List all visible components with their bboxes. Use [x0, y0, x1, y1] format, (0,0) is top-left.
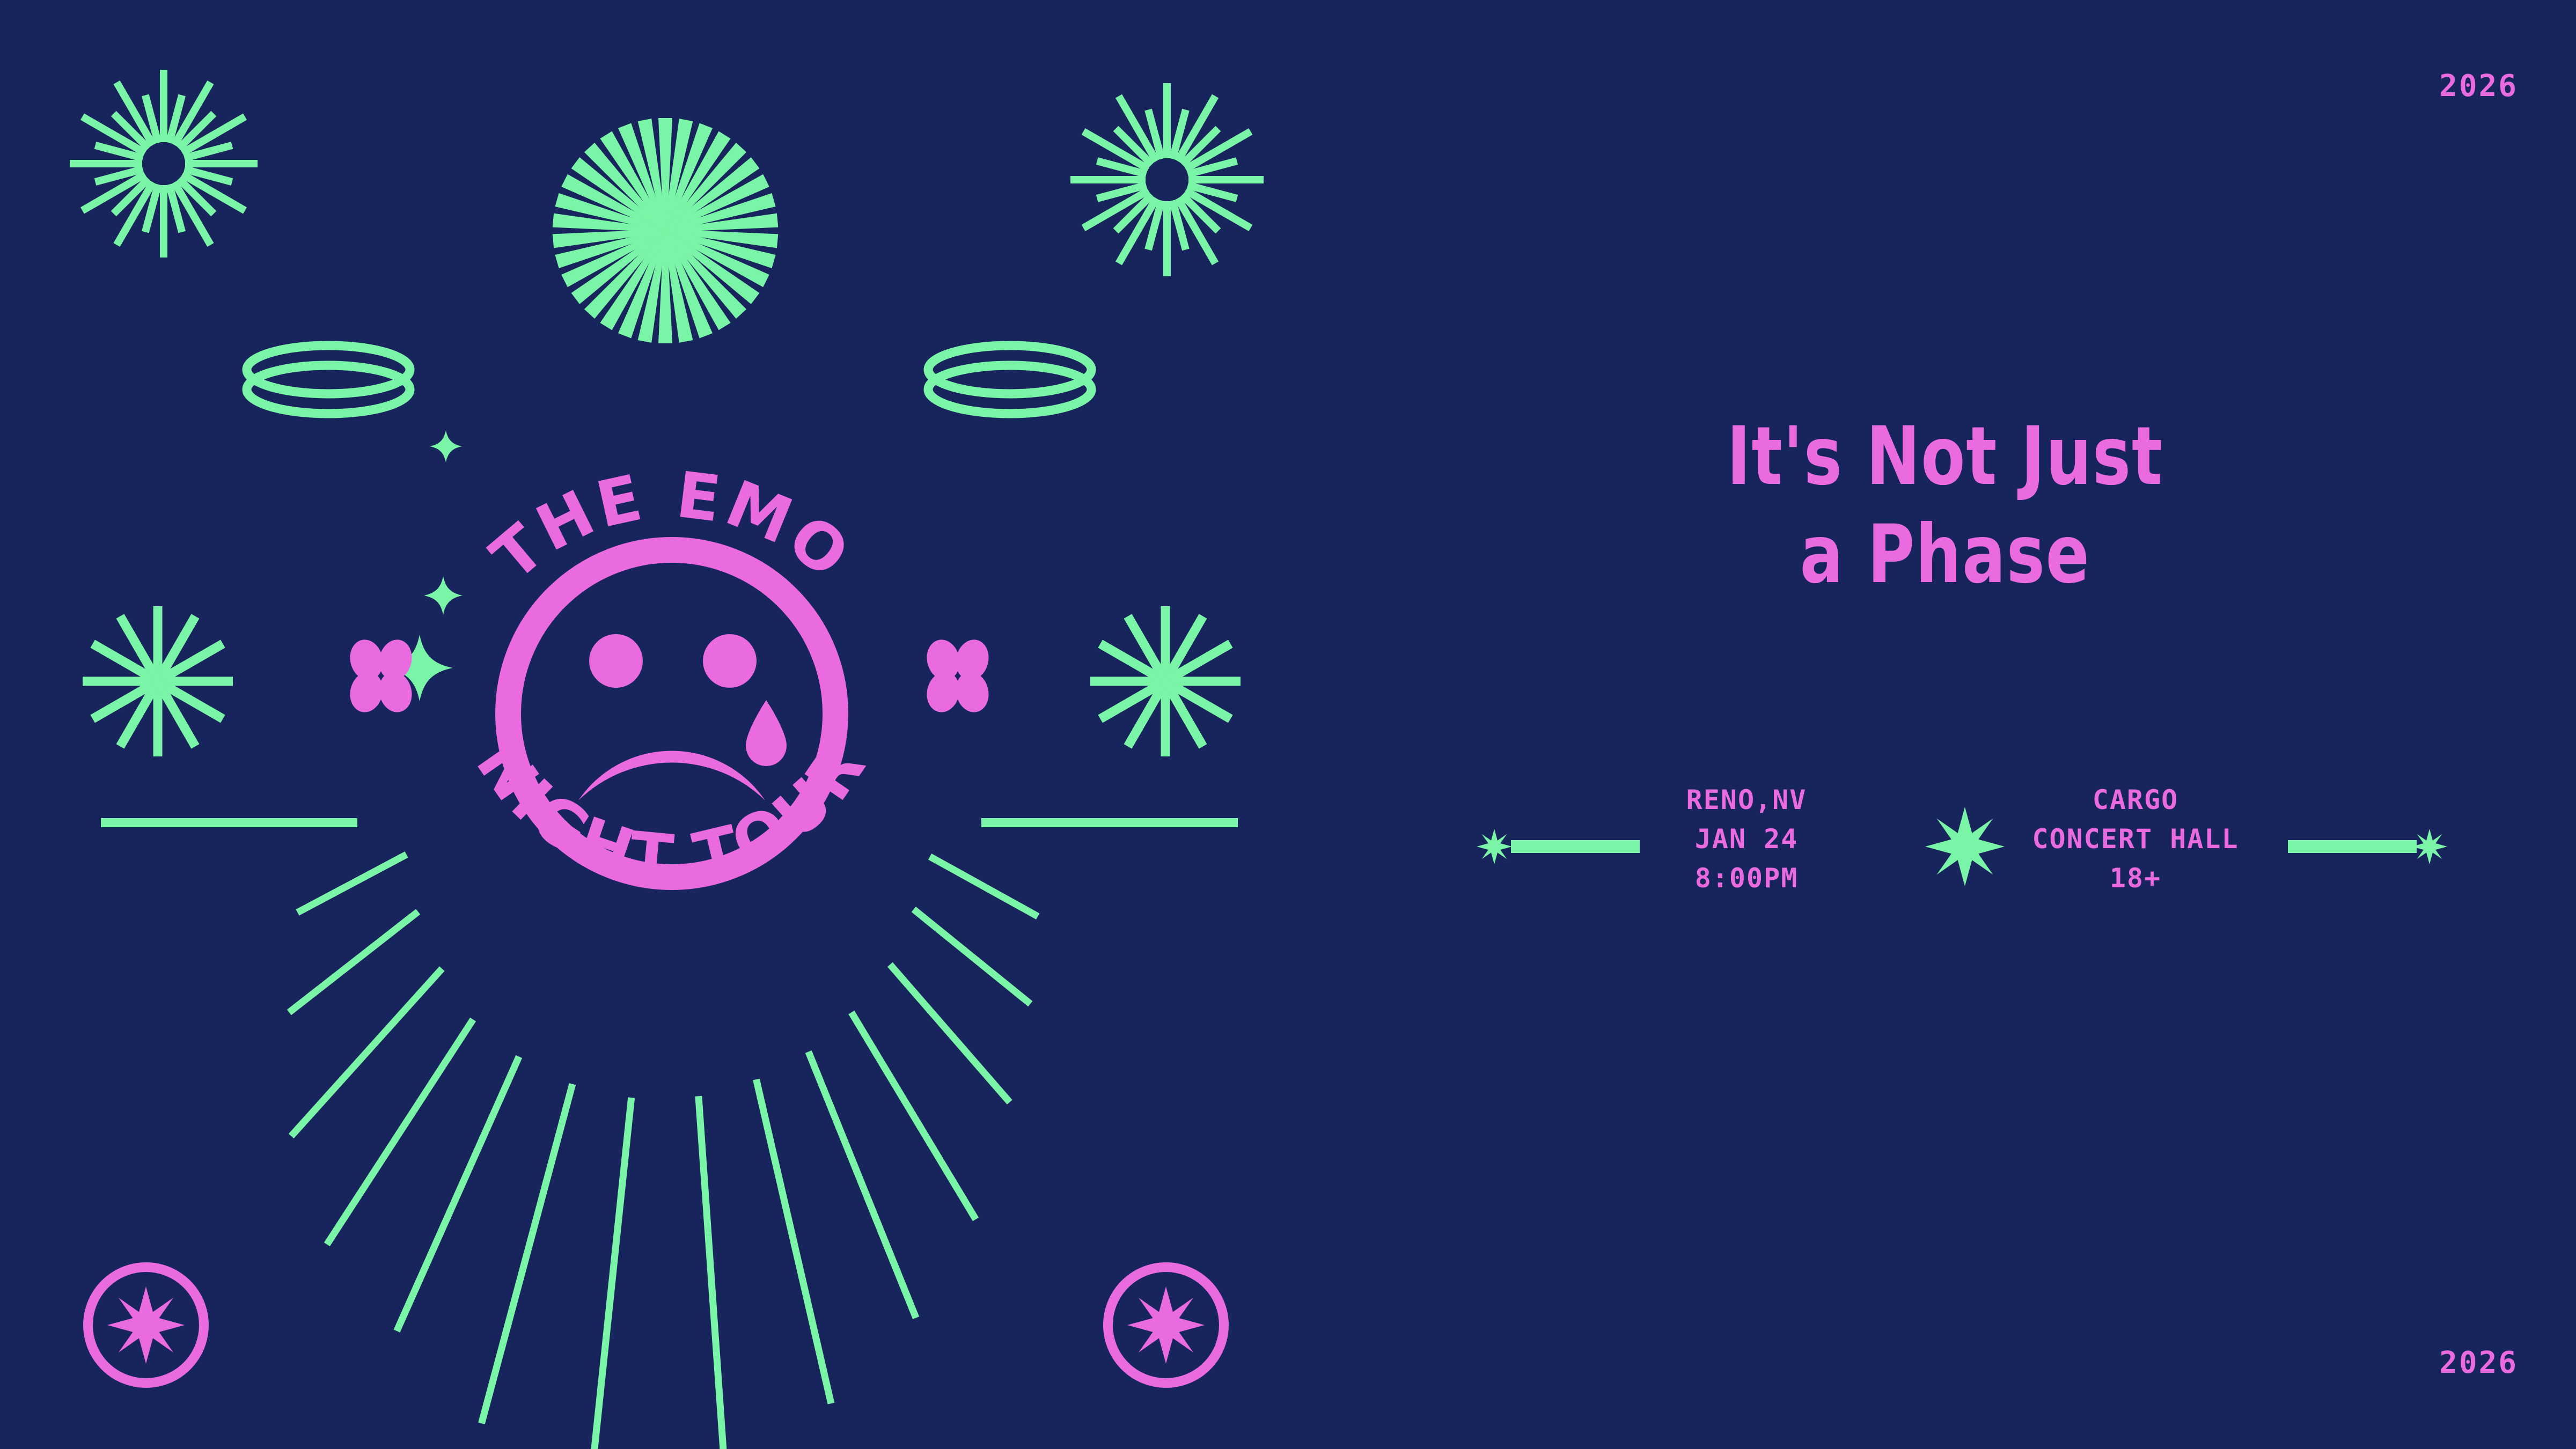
poster-graphics: THE EMO NIGHT TOUR: [0, 0, 2576, 1449]
sparkle-icon: [424, 576, 463, 615]
sunburst-icon: [70, 70, 258, 258]
eight-point-star-icon: [1477, 829, 1512, 864]
clover-icon: [346, 636, 416, 716]
event-details-left: RENO,NV JAN 24 8:00PM: [1639, 781, 1854, 898]
year-mark-top: 2026: [2439, 69, 2518, 104]
halo-ring-icon: [247, 345, 410, 414]
left-eye-icon: [589, 634, 643, 688]
emo-badge: THE EMO NIGHT TOUR: [462, 458, 882, 896]
eight-point-star-icon: [2412, 829, 2447, 864]
sunburst-icon: [1070, 83, 1264, 276]
horizontal-rule: [981, 818, 1238, 827]
halo-ring-icon: [928, 345, 1091, 414]
asterisk-star-icon: [1090, 606, 1241, 756]
tear-drop-icon: [746, 700, 787, 766]
horizontal-rule: [2288, 840, 2417, 853]
circled-star-icon: [1108, 1267, 1224, 1383]
badge-top-arc-text: THE EMO: [478, 458, 866, 595]
sunburst-icon: [553, 118, 779, 343]
page-title: It's Not Just a Phase: [1634, 408, 2256, 604]
frown-mouth-icon: [578, 751, 765, 800]
radiating-rays: [289, 855, 1038, 1449]
year-mark-bottom: 2026: [2439, 1345, 2518, 1380]
event-details-right: CARGO CONCERT HALL 18+: [1985, 781, 2286, 898]
clover-icon: [923, 636, 993, 716]
poster-canvas: THE EMO NIGHT TOUR It's Not Just a Phase…: [0, 0, 2576, 1449]
right-eye-icon: [703, 634, 757, 688]
circled-star-icon: [88, 1267, 204, 1383]
sparkle-icon: [430, 430, 462, 462]
horizontal-rule: [1511, 840, 1640, 853]
horizontal-rule: [101, 818, 357, 827]
asterisk-star-icon: [83, 606, 233, 756]
